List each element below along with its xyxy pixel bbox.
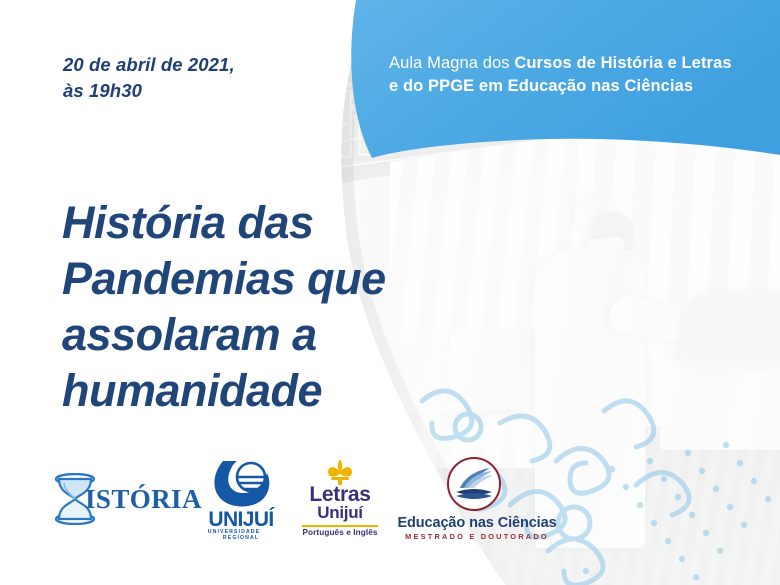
logo-row: ISTÓRIA UNIJUÍ UNIVERSIDADEREGIONAL — [52, 455, 522, 550]
header-subtitle: Aula Magna dos Cursos de História e Letr… — [389, 52, 761, 98]
logo-letras-line2: Unijuí — [294, 504, 386, 522]
header-emphasis-line1: Cursos de História e Letras — [514, 54, 731, 72]
header-lead: Aula Magna dos — [389, 54, 514, 72]
logo-unijui-wordmark: UNIJUÍ — [197, 509, 285, 530]
logo-unijui: UNIJUÍ UNIVERSIDADEREGIONAL — [197, 459, 285, 541]
open-book-icon — [454, 468, 494, 502]
unijui-tagline-right: REGIONAL — [223, 535, 259, 541]
logo-letras-divider — [302, 525, 378, 527]
logo-educacao-nas-ciencias: Educação nas Ciências MESTRADO E DOUTORA… — [397, 457, 557, 543]
title-line-2: Pandemias que — [62, 253, 386, 304]
logo-letras: Letras Unijuí Português e Inglês — [294, 459, 386, 539]
title-line-4: humanidade — [62, 365, 322, 416]
event-poster: Aula Magna dos Cursos de História e Letr… — [0, 0, 780, 585]
logo-educ-tagline: MESTRADO E DOUTORADO — [397, 532, 557, 541]
logo-historia-wordmark: ISTÓRIA — [85, 486, 202, 513]
header-emphasis-line2: e do PPGE em Educação nas Ciências — [389, 77, 693, 95]
event-time-line: às 19h30 — [63, 80, 142, 101]
fleur-de-lis-icon — [325, 459, 355, 485]
title-line-1: História das — [62, 197, 314, 248]
event-date-line1: 20 de abril de 2021, — [63, 54, 235, 75]
event-date: 20 de abril de 2021, às 19h30 — [63, 52, 363, 104]
unijui-swoosh-icon — [197, 459, 285, 509]
logo-letras-tagline: Português e Inglês — [294, 528, 386, 537]
logo-historia: ISTÓRIA — [52, 473, 177, 528]
page-title: História das Pandemias que assolaram a h… — [62, 195, 422, 419]
title-line-3: assolaram a — [62, 309, 317, 360]
logo-educ-name: Educação nas Ciências — [397, 515, 557, 531]
logo-unijui-tagline: UNIVERSIDADEREGIONAL — [197, 529, 285, 541]
